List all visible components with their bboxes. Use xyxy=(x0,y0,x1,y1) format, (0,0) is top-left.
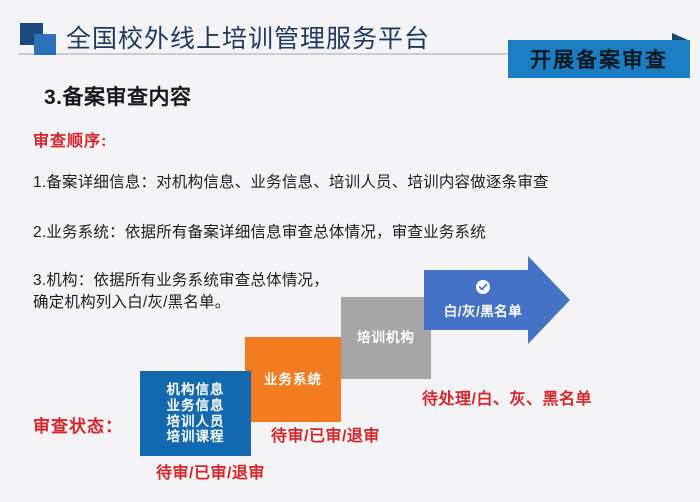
review-flow-diagram: 培训机构 业务系统 机构信息 业务信息 培训人员 培训课程 白/灰/黑名单 待审… xyxy=(0,0,700,502)
check-circle-icon xyxy=(476,280,490,294)
stage-1-line-4: 培训课程 xyxy=(167,429,225,445)
stage-4-白灰黑名单: 白/灰/黑名单 xyxy=(424,256,542,344)
stage-1-annotation: 待审/已审/退审 xyxy=(156,459,265,483)
stage-3-培训机构[interactable]: 培训机构 xyxy=(341,297,431,379)
stage-1-备案详细信息[interactable]: 机构信息 业务信息 培训人员 培训课程 xyxy=(140,371,251,456)
slide-canvas: 全国校外线上培训管理服务平台 开展备案审查 3.备案审查内容 审查顺序: 1.备… xyxy=(0,0,700,502)
stage-1-line-3: 培训人员 xyxy=(167,414,225,430)
stage-2-annotation: 待审/已审/退审 xyxy=(271,422,380,446)
stage-1-line-2: 业务信息 xyxy=(167,398,225,414)
stage-3-label: 培训机构 xyxy=(357,330,415,346)
stage-3-annotation: 待处理/白、灰、黑名单 xyxy=(422,385,592,409)
stage-2-业务系统[interactable]: 业务系统 xyxy=(245,337,341,422)
stage-2-label: 业务系统 xyxy=(264,372,322,388)
stage-1-line-1: 机构信息 xyxy=(167,382,225,398)
stage-4-label-text: 白/灰/黑名单 xyxy=(444,300,523,320)
